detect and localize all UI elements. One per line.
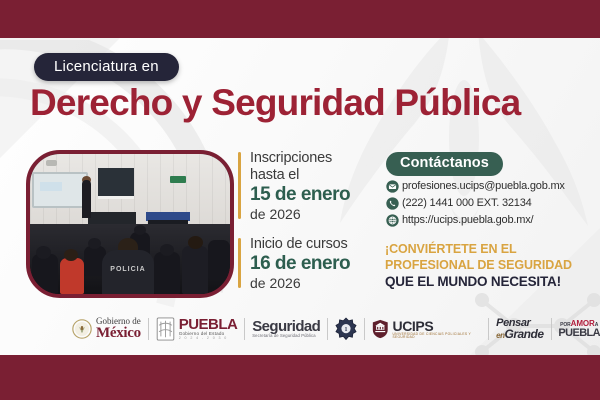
contact-email: profesiones.ucips@puebla.gob.mx: [402, 180, 565, 192]
logo-ucips: UCIPS UNIVERSIDAD DE CIENCIAS POLICIALES…: [372, 318, 481, 340]
envelope-icon: [386, 180, 399, 193]
logo-line-1: PUEBLA: [179, 317, 238, 332]
logo-strip: Gobierno de México PUEBLA Gobierno del E…: [72, 308, 600, 350]
logo-divider: [148, 318, 149, 340]
logo-line-1: UCIPS: [393, 319, 482, 333]
logo-puebla: PUEBLA Gobierno del Estado 2 0 2 4 - 2 0…: [156, 317, 238, 341]
puebla-shield-icon: [156, 317, 175, 341]
logo-seguridad: Seguridad Secretaría de Seguridad Públic…: [252, 319, 320, 338]
date-lead-line1: Inicio de cursos: [250, 236, 370, 253]
logo-puebla-word: PUEBLA: [558, 328, 600, 339]
contact-heading: Contáctanos: [386, 152, 503, 176]
contact-phone: (222) 1441 000 EXT. 32134: [402, 197, 532, 209]
globe-icon: [386, 214, 399, 227]
classroom-photo: POLICIA: [26, 150, 234, 298]
bottom-bar: [0, 355, 600, 400]
logo-line-3: Grande: [504, 327, 543, 341]
date-value: 15 de enero: [250, 184, 370, 206]
contact-column: Contáctanos profesiones.ucips@puebla.gob…: [386, 152, 592, 227]
mexico-seal-icon: [72, 319, 92, 339]
logo-line-3: 2 0 2 4 - 2 0 3 0: [179, 337, 238, 341]
top-bar: [0, 0, 600, 38]
logo-divider: [488, 318, 489, 340]
logo-divider: [551, 318, 552, 340]
date-value: 16 de enero: [250, 253, 370, 275]
logo-pensar-en-grande: Pensar enGrande: [496, 318, 543, 340]
kicker-badge: Licenciatura en: [34, 53, 179, 81]
date-year: de 2026: [250, 206, 370, 223]
date-lead-line1: Inscripciones: [250, 150, 370, 167]
dates-column: Inscripciones hasta el 15 de enero de 20…: [238, 150, 370, 305]
logo-line-2: UNIVERSIDAD DE CIENCIAS POLICIALES Y SEG…: [393, 333, 482, 340]
svg-text:1: 1: [345, 327, 348, 333]
logo-divider: [327, 318, 328, 340]
cta-line-2: PROFESIONAL DE SEGURIDAD: [385, 258, 595, 274]
logo-divider: [364, 318, 365, 340]
logo-line-2: México: [96, 326, 141, 341]
police-star-badge-icon: 1: [335, 317, 357, 341]
date-block-inscripciones: Inscripciones hasta el 15 de enero de 20…: [238, 150, 370, 223]
uniform-text: POLICIA: [106, 266, 150, 276]
page-title: Derecho y Seguridad Pública: [30, 84, 520, 121]
contact-row-website[interactable]: https://ucips.puebla.gob.mx/: [386, 214, 592, 227]
date-block-inicio-cursos: Inicio de cursos 16 de enero de 2026: [238, 236, 370, 292]
contact-row-phone[interactable]: (222) 1441 000 EXT. 32134: [386, 197, 592, 210]
logo-por-amor-a-puebla: PORAMORA PUEBLA: [558, 320, 600, 339]
phone-icon: [386, 197, 399, 210]
cta-line-1: ¡CONVIÉRTETE EN EL: [385, 242, 595, 258]
logo-policia-estatal-badge: 1: [335, 317, 357, 341]
logo-line-2: Secretaría de Seguridad Pública: [252, 334, 320, 338]
poster-canvas: Licenciatura en Derecho y Seguridad Públ…: [0, 0, 600, 400]
logo-divider: [244, 318, 245, 340]
date-year: de 2026: [250, 275, 370, 292]
contact-website: https://ucips.puebla.gob.mx/: [402, 214, 533, 226]
logo-line-1: Seguridad: [252, 319, 320, 334]
cta-line-3: QUE EL MUNDO NECESITA!: [385, 273, 595, 291]
date-lead-line2: hasta el: [250, 167, 370, 184]
contact-row-email[interactable]: profesiones.ucips@puebla.gob.mx: [386, 180, 592, 193]
call-to-action: ¡CONVIÉRTETE EN EL PROFESIONAL DE SEGURI…: [385, 242, 595, 291]
ucips-shield-icon: [372, 318, 389, 340]
logo-gobierno-de-mexico: Gobierno de México: [72, 317, 141, 341]
